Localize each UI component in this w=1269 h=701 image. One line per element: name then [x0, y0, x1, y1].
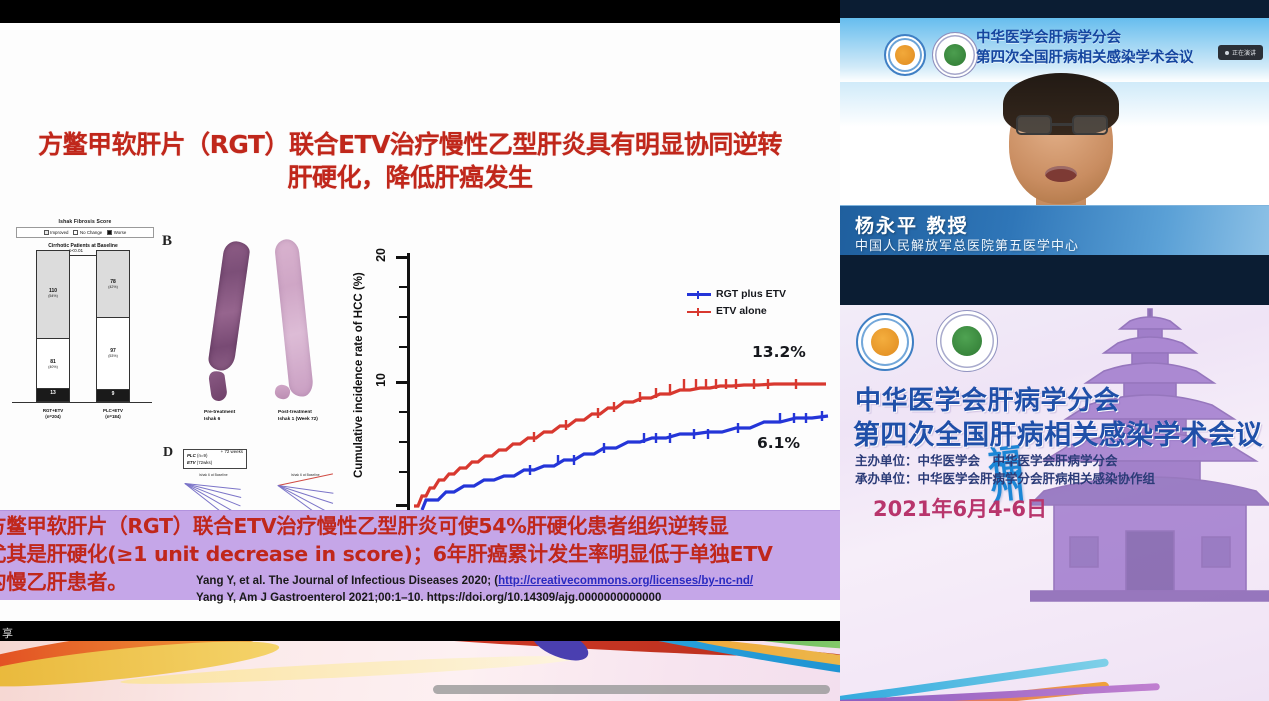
citation-line-2: Yang Y, Am J Gastroenterol 2021;00:1–10.… — [196, 590, 840, 607]
right-column: 中华医学会肝病学分会 第四次全国肝病相关感染学术会议 正在演讲 杨永平 教授 中… — [840, 0, 1269, 701]
chart-legend-item-rgt: RGT plus ETV — [687, 286, 786, 303]
panel-d-caption-left: Ishak 6 at Baseline — [199, 473, 228, 477]
chart-annotation-etv-pct: 13.2% — [752, 343, 806, 361]
video-header-line-1: 中华医学会肝病学分会 — [976, 29, 1194, 49]
video-header-text: 中华医学会肝病学分会 第四次全国肝病相关感染学术会议 — [976, 29, 1194, 68]
panel-b-histology: B Pre-treatmentIshak 6 Post-treatmentIsh… — [160, 233, 365, 448]
video-badge-label: 正在演讲 — [1232, 48, 1256, 57]
slide-title: 方鳖甲软肝片（RGT）联合ETV治疗慢性乙型肝炎具有明显协同逆转 肝硬化，降低肝… — [0, 128, 830, 194]
chart-ytick-minor-1 — [399, 286, 408, 288]
poster-host-line: 主办单位：中华医学会 中华医学会肝病学分会 — [855, 450, 1118, 469]
conclusion-line-1: 方鳖甲软肝片（RGT）联合ETV治疗慢性乙型肝炎可使54%肝硬化患者组织逆转显 — [0, 513, 728, 541]
poster-title-line-1: 中华医学会肝病学分会 — [855, 380, 1120, 417]
poster-organizer-line: 承办单位：中华医学会肝病学分会肝病相关感染协作组 — [855, 468, 1155, 487]
share-status-label: 享 — [2, 625, 13, 641]
histology-pretreatment-fragment — [208, 370, 228, 402]
citation-license-link[interactable]: http://creativecommons.org/licenses/by-n… — [498, 575, 753, 587]
badge-dot-icon — [1225, 51, 1229, 55]
chart-ytick-10 — [396, 381, 408, 384]
conference-poster: 福 州 中华医学会肝病学分会 第四次全国肝病相关感染学术会议 主办单位：中华医学… — [840, 305, 1269, 701]
cma-seal-icon — [884, 34, 926, 76]
slide-share-pane[interactable]: 方鳖甲软肝片（RGT）联合ETV治疗慢性乙型肝炎具有明显协同逆转 肝硬化，降低肝… — [0, 0, 840, 641]
panel-d-treatment-box: PLC (n=9) ETV (72wks) + 72 weeks — [183, 449, 247, 469]
speaker-name: 杨永平 教授 — [855, 211, 969, 238]
speaker-affiliation: 中国人民解放军总医院第五医学中心 — [855, 235, 1079, 254]
chart-ytick-minor-5 — [399, 441, 408, 443]
panel-d-label: D — [163, 445, 173, 461]
histology-posttreatment-image — [274, 238, 314, 398]
citation-line-1: Yang Y, et al. The Journal of Infectious… — [196, 573, 840, 590]
chart-ytick-label-20: 20 — [374, 248, 388, 262]
poster-cma-seal-icon — [856, 313, 914, 371]
ishak-legend-items: Improved No Change Worse — [16, 227, 154, 238]
panel-c-cumulative-incidence-chart: Cumulative incidence rate of HCC (%) 20 … — [352, 248, 840, 523]
slide-canvas: 方鳖甲软肝片（RGT）联合ETV治疗慢性乙型肝炎具有明显协同逆转 肝硬化，降低肝… — [0, 23, 840, 621]
legend-worse: Worse — [114, 230, 127, 235]
slide-citation: Yang Y, et al. The Journal of Infectious… — [196, 573, 840, 606]
chart-annotation-rgt-pct: 6.1% — [757, 434, 800, 452]
bar-plc-etv: 78(42%) 97(53%) 9 — [96, 250, 130, 402]
bar-plc-nochange-label: 97(53%) — [97, 348, 129, 358]
bar-rgt-improved-label: 110(54%) — [37, 288, 69, 298]
bar-rgt-xlabel: RGT+ETV(n=204) — [27, 408, 79, 420]
panel-a-bar-figure: Ishak Fibrosis Score Improved No Change … — [8, 219, 158, 424]
slide-title-line1: 方鳖甲软肝片（RGT）联合ETV治疗慢性乙型肝炎具有明显协同逆转 — [0, 128, 830, 161]
video-status-badge: 正在演讲 — [1218, 45, 1263, 60]
ishak-legend-title: Ishak Fibrosis Score — [16, 219, 154, 225]
chart-ytick-minor-2 — [399, 316, 408, 318]
poster-date: 2021年6月4-6日 — [873, 493, 1047, 523]
bar-rgt-worse-label: 13 — [37, 390, 69, 396]
speaker-nameplate: 杨永平 教授 中国人民解放军总医院第五医学中心 — [840, 205, 1269, 255]
slide-letterbox-bottom — [0, 621, 840, 641]
chart-legend-item-etv: ETV alone — [687, 303, 786, 320]
series-line-rgt-plus-etv — [422, 416, 828, 510]
slide-letterbox-top — [0, 0, 840, 23]
speaker-mouth — [1045, 166, 1077, 182]
ishak-legend: Ishak Fibrosis Score Improved No Change … — [16, 219, 154, 238]
histology-caption-post: Post-treatmentIshak 1 (Week 72) — [278, 409, 318, 423]
histology-caption-pre: Pre-treatmentIshak 6 — [204, 409, 235, 423]
series-censor-ticks-etv — [534, 379, 796, 442]
legend-improved: Improved — [50, 230, 68, 235]
legend-nochange: No Change — [80, 230, 102, 235]
chart-ytick-minor-6 — [399, 471, 408, 473]
bottom-scrollbar[interactable] — [433, 685, 830, 694]
speaker-glasses-icon — [1016, 115, 1108, 135]
chart-legend: RGT plus ETV ETV alone — [687, 286, 786, 321]
panel-b-label: B — [162, 233, 172, 250]
conclusion-line-3: 的慢乙肝患者。 — [0, 569, 127, 597]
screen-root: 方鳖甲软肝片（RGT）联合ETV治疗慢性乙型肝炎具有明显协同逆转 肝硬化，降低肝… — [0, 0, 1269, 701]
bar-plc-improved-label: 78(42%) — [97, 279, 129, 289]
bar-plc-worse-label: 9 — [97, 391, 129, 397]
chart-y-axis-label: Cumulative incidence rate of HCC (%) — [351, 248, 367, 503]
chart-ytick-label-10: 10 — [374, 373, 388, 387]
hepatology-branch-seal-icon — [932, 32, 978, 78]
bar-rgt-etv: 110(54%) 81(40%) 13 — [36, 250, 70, 402]
chart-ytick-20 — [396, 256, 408, 259]
poster-hepatology-seal-icon — [936, 310, 998, 372]
panel-d-sankey-figure: D PLC (n=9) ETV (72wks) + 72 weeks Ishak… — [163, 447, 373, 517]
chart-ytick-0 — [396, 504, 408, 507]
slide-title-line2: 肝硬化，降低肝癌发生 — [0, 161, 830, 194]
histology-pretreatment-image — [207, 240, 251, 371]
video-header-line-2: 第四次全国肝病相关感染学术会议 — [976, 49, 1194, 69]
chart-ytick-minor-4 — [399, 411, 408, 413]
panel-a-baseline — [12, 402, 152, 403]
poster-title-line-2: 第四次全国肝病相关感染学术会议 — [853, 413, 1263, 452]
chart-ytick-minor-3 — [399, 346, 408, 348]
bar-plc-xlabel: PLC+ETV(n=184) — [87, 408, 139, 420]
conclusion-line-2: 尤其是肝硬化(≥1 unit decrease in score)；6年肝癌累计… — [0, 541, 773, 569]
bar-rgt-nochange-label: 81(40%) — [37, 359, 69, 369]
speaker-video-tile[interactable]: 中华医学会肝病学分会 第四次全国肝病相关感染学术会议 正在演讲 杨永平 教授 中… — [840, 18, 1269, 255]
